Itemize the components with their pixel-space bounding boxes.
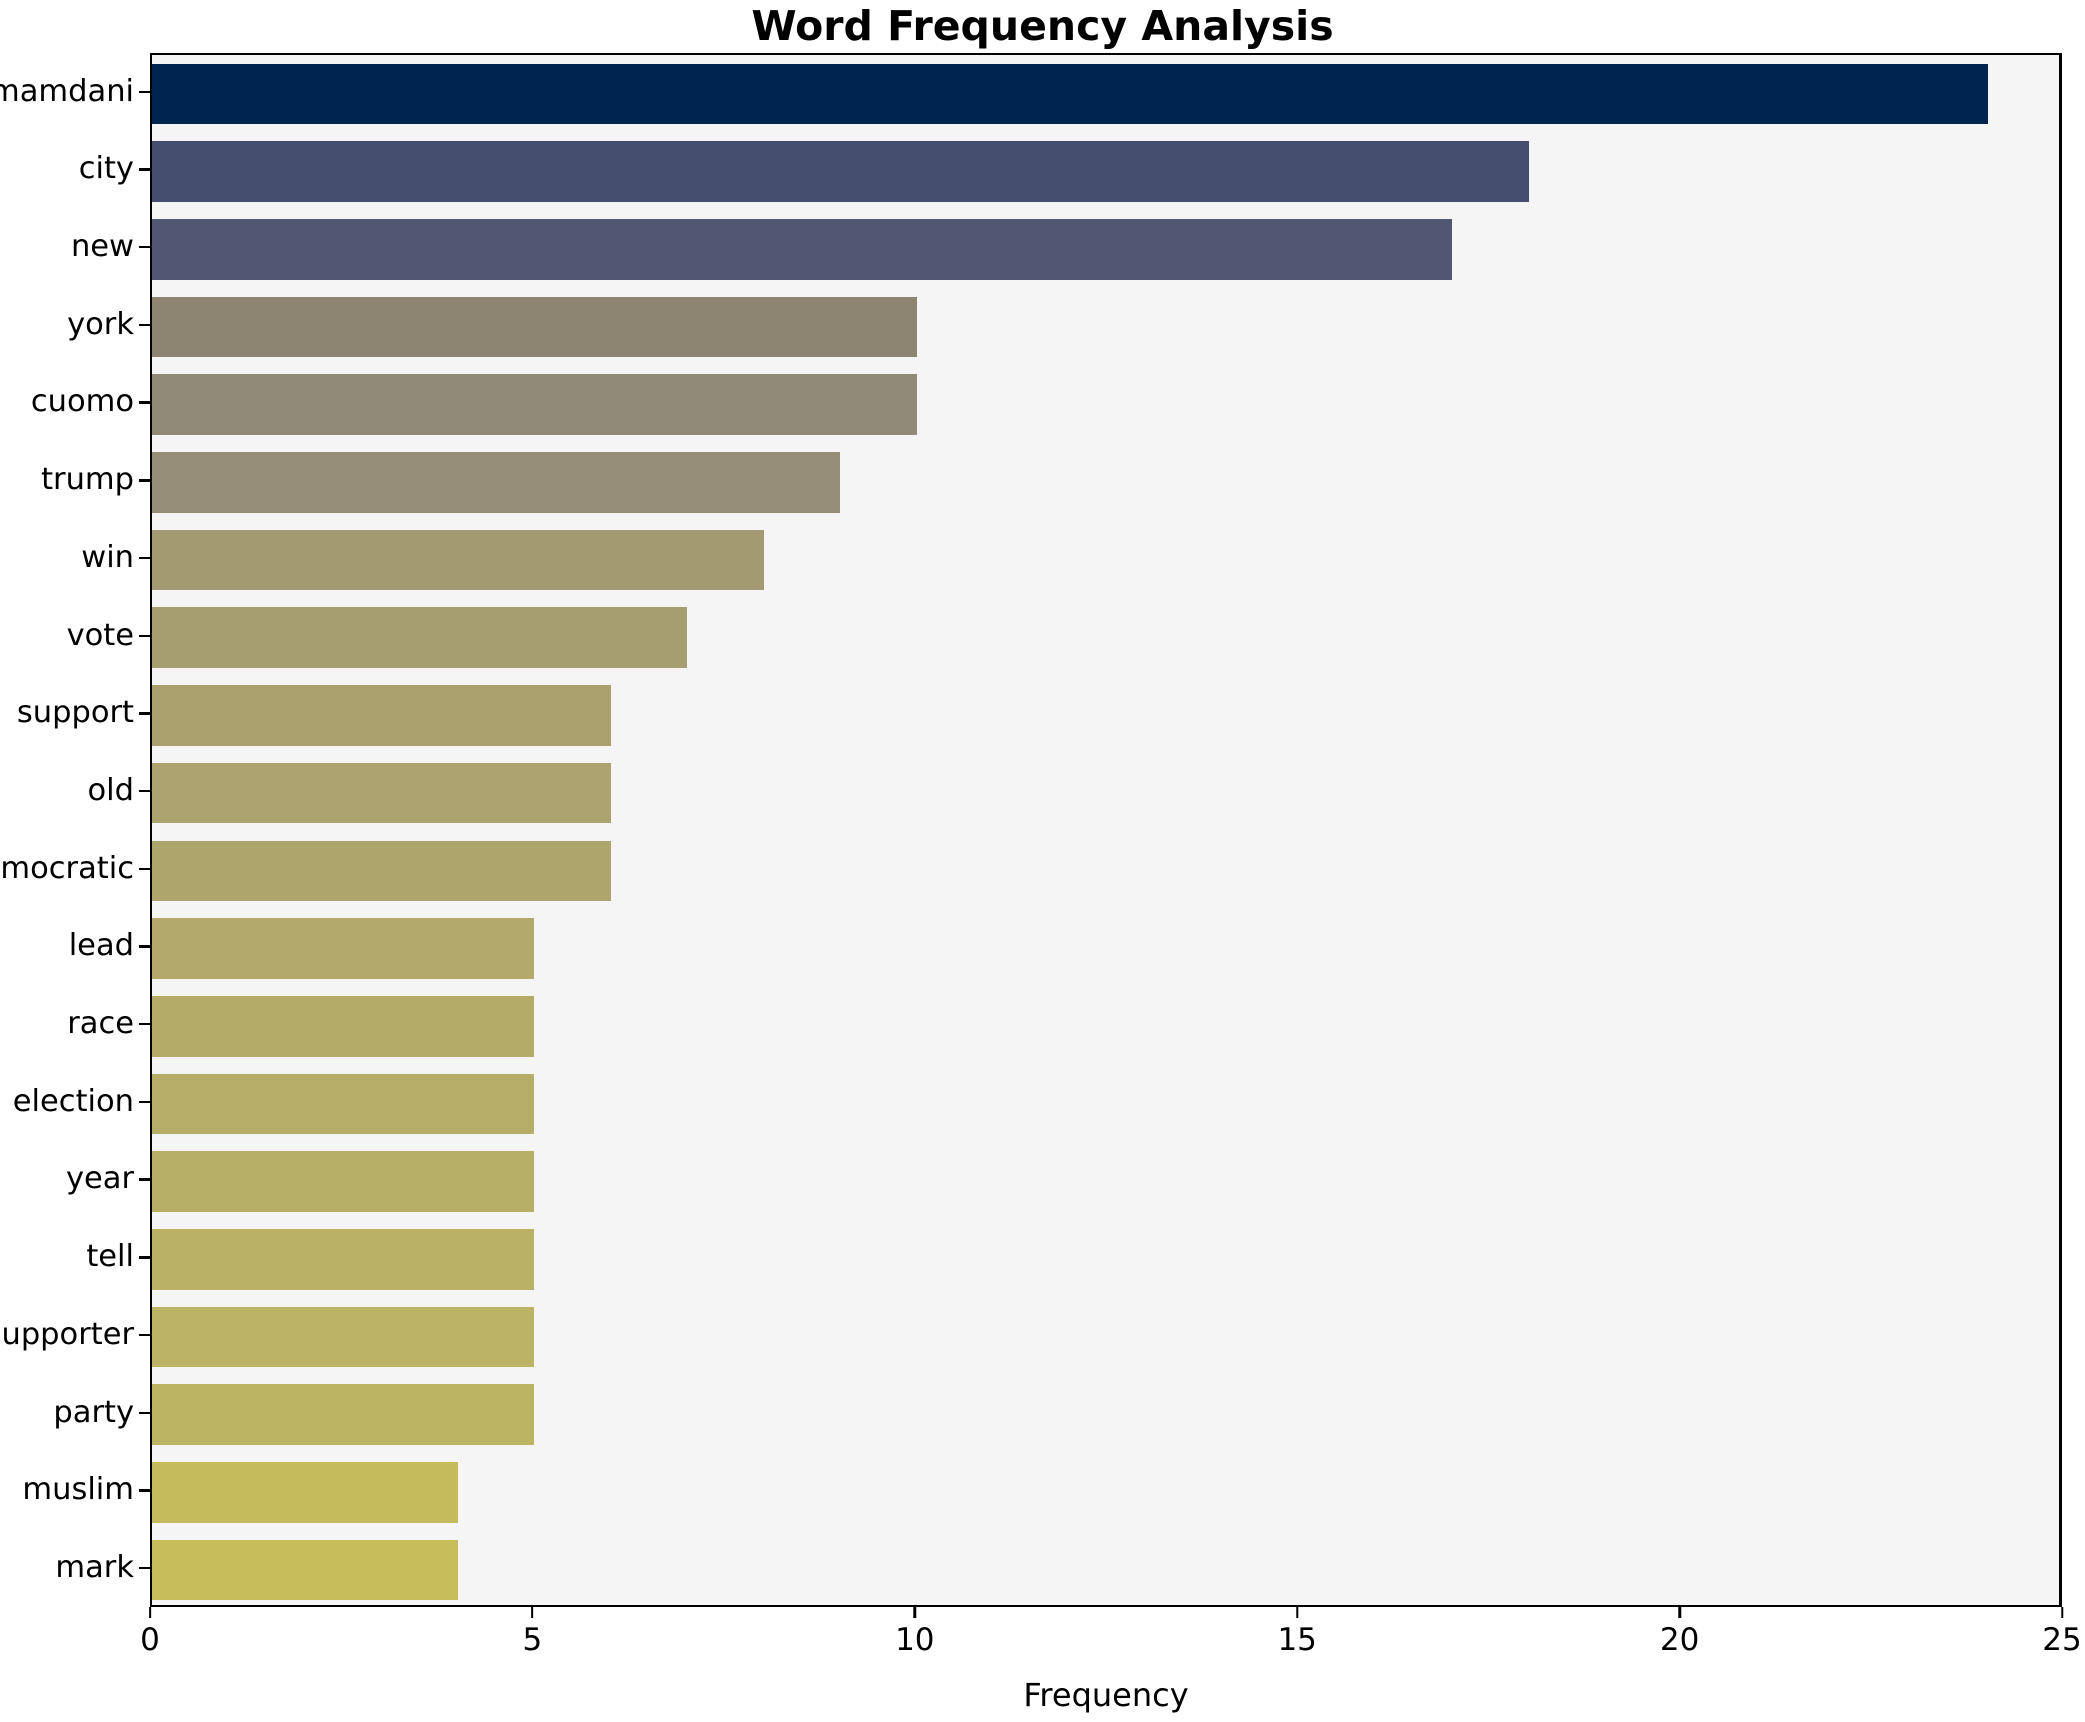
bar-lead	[152, 918, 534, 979]
x-tick-0: 0	[140, 1607, 160, 1656]
chart-title: Word Frequency Analysis	[0, 2, 2085, 50]
y-tick-mark	[139, 479, 150, 481]
bar-race	[152, 996, 534, 1057]
bar-row	[152, 685, 2059, 746]
x-tick-25: 25	[2042, 1607, 2081, 1656]
x-tick-label: 0	[140, 1625, 160, 1656]
bar-row	[152, 530, 2059, 591]
x-tick-label: 20	[1660, 1625, 1699, 1656]
bar-row	[152, 1151, 2059, 1212]
bar-row	[152, 996, 2059, 1057]
bar-row	[152, 297, 2059, 358]
x-tick-mark	[914, 1607, 916, 1618]
bar-row	[152, 607, 2059, 668]
y-tick-label: year	[66, 1164, 139, 1195]
bar-row	[152, 374, 2059, 435]
x-tick-5: 5	[523, 1607, 543, 1656]
bar-row	[152, 918, 2059, 979]
bar-row	[152, 64, 2059, 125]
bar-row	[152, 452, 2059, 513]
bar-row	[152, 1540, 2059, 1601]
bar-old	[152, 763, 611, 824]
y-tick-mark	[139, 557, 150, 559]
plot-area	[150, 53, 2062, 1607]
bar-row	[152, 841, 2059, 902]
bar-row	[152, 1229, 2059, 1290]
y-tick-mark	[139, 168, 150, 170]
x-tick-15: 15	[1277, 1607, 1316, 1656]
bar-row	[152, 1462, 2059, 1523]
y-tick-mark	[139, 1567, 150, 1569]
x-tick-label: 15	[1277, 1625, 1316, 1656]
y-tick-mark	[139, 324, 150, 326]
y-tick-label: old	[88, 776, 140, 807]
y-tick-mark	[139, 1489, 150, 1491]
bar-new	[152, 219, 1452, 280]
bar-party	[152, 1384, 534, 1445]
y-tick-label: support	[17, 698, 139, 729]
x-tick-20: 20	[1660, 1607, 1699, 1656]
x-tick-label: 10	[895, 1625, 934, 1656]
bar-row	[152, 141, 2059, 202]
bar-cuomo	[152, 374, 917, 435]
y-tick-mark	[139, 1412, 150, 1414]
y-tick-label: democratic	[0, 854, 139, 885]
y-tick-label: york	[67, 310, 139, 341]
x-axis-label: Frequency	[150, 1676, 2062, 1714]
bar-mark	[152, 1540, 458, 1601]
bar-supporter	[152, 1307, 534, 1368]
y-tick-mark	[139, 1023, 150, 1025]
word-frequency-bar-chart-figure: Word Frequency Analysis mamdanicitynewyo…	[0, 0, 2085, 1722]
y-tick-mark	[139, 945, 150, 947]
y-tick-mark	[139, 1334, 150, 1336]
bar-vote	[152, 607, 687, 668]
x-tick-10: 10	[895, 1607, 934, 1656]
y-tick-label: mamdani	[0, 77, 139, 108]
y-tick-mark	[139, 635, 150, 637]
y-tick-label: tell	[86, 1242, 139, 1273]
y-tick-mark	[139, 868, 150, 870]
x-tick-mark	[531, 1607, 533, 1618]
y-tick-label: new	[71, 232, 139, 263]
bar-city	[152, 141, 1529, 202]
y-tick-label: mark	[55, 1553, 139, 1584]
y-tick-label: race	[67, 1009, 139, 1040]
y-tick-label: muslim	[22, 1475, 139, 1506]
y-tick-mark	[139, 790, 150, 792]
bar-york	[152, 297, 917, 358]
x-tick-mark	[1678, 1607, 1680, 1618]
x-tick-label: 5	[523, 1625, 543, 1656]
y-tick-label: party	[53, 1398, 139, 1429]
y-tick-label: supporter	[0, 1320, 139, 1351]
bar-row	[152, 1074, 2059, 1135]
y-tick-mark	[139, 91, 150, 93]
y-tick-label: vote	[67, 621, 139, 652]
bar-democratic	[152, 841, 611, 902]
y-tick-label: cuomo	[31, 387, 139, 418]
x-tick-mark	[149, 1607, 151, 1618]
y-tick-mark	[139, 246, 150, 248]
y-tick-label: trump	[41, 465, 139, 496]
bar-mamdani	[152, 64, 1988, 125]
bar-muslim	[152, 1462, 458, 1523]
bar-row	[152, 763, 2059, 824]
bar-win	[152, 530, 764, 591]
bar-support	[152, 685, 611, 746]
y-tick-mark	[139, 1256, 150, 1258]
bar-row	[152, 1307, 2059, 1368]
bar-election	[152, 1074, 534, 1135]
y-tick-mark	[139, 1101, 150, 1103]
y-tick-mark	[139, 401, 150, 403]
y-tick-mark	[139, 712, 150, 714]
bar-trump	[152, 452, 840, 513]
x-tick-label: 25	[2042, 1625, 2081, 1656]
bar-year	[152, 1151, 534, 1212]
x-tick-mark	[2061, 1607, 2063, 1618]
bars-layer	[152, 55, 2059, 1605]
bar-row	[152, 219, 2059, 280]
bar-tell	[152, 1229, 534, 1290]
x-tick-mark	[1296, 1607, 1298, 1618]
y-tick-label: lead	[69, 931, 139, 962]
bar-row	[152, 1384, 2059, 1445]
y-tick-label: election	[13, 1087, 139, 1118]
y-tick-mark	[139, 1178, 150, 1180]
y-axis: mamdanicitynewyorkcuomotrumpwinvotesuppo…	[0, 53, 150, 1607]
y-tick-label: win	[81, 543, 139, 574]
y-tick-label: city	[79, 154, 139, 185]
